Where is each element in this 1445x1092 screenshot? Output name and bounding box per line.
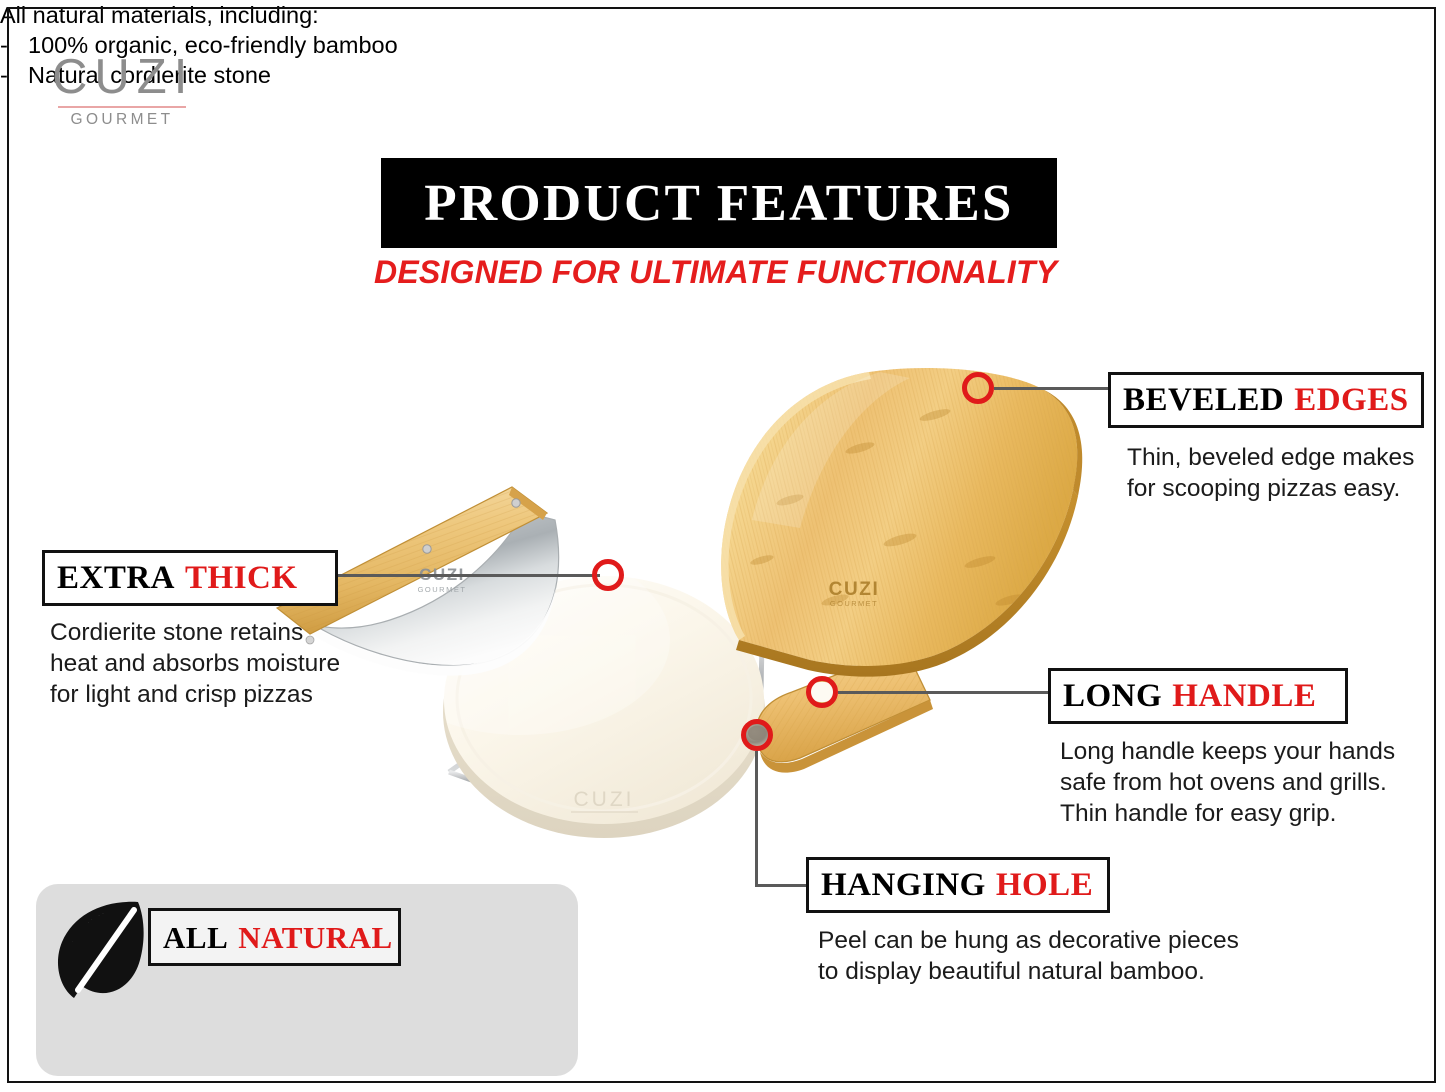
label-beveled-edges: BEVELED EDGES xyxy=(1108,372,1424,428)
label-word-2: HANDLE xyxy=(1172,680,1316,713)
stone-brand-mark: CUZI xyxy=(574,788,635,811)
label-long-handle: LONG HANDLE xyxy=(1048,668,1348,724)
label-word-2: HOLE xyxy=(996,869,1093,902)
label-word-1: EXTRA xyxy=(57,562,175,595)
label-all-natural: ALL NATURAL xyxy=(148,908,401,966)
svg-text:GOURMET: GOURMET xyxy=(830,599,878,608)
logo-divider xyxy=(58,106,186,108)
label-word-2: THICK xyxy=(185,562,298,595)
desc-hanging-hole: Peel can be hung as decorative pieces to… xyxy=(818,925,1250,987)
page-subtitle: DESIGNED FOR ULTIMATE FUNCTIONALITY xyxy=(374,254,1083,291)
marker-long-handle xyxy=(806,676,838,708)
marker-extra-thick xyxy=(592,559,624,591)
label-word-1: BEVELED xyxy=(1123,384,1284,417)
brand-tagline: GOURMET xyxy=(52,111,192,129)
label-word-1: HANGING xyxy=(821,869,986,902)
connector-hanging-hole-horizontal xyxy=(755,884,810,887)
desc-long-handle: Long handle keeps your hands safe from h… xyxy=(1060,736,1400,829)
label-extra-thick: EXTRA THICK xyxy=(42,550,338,606)
bullet-dash: - xyxy=(0,30,28,60)
marker-hanging-hole xyxy=(741,719,773,751)
bamboo-peel: CUZI GOURMET xyxy=(721,368,1082,773)
wire-rack xyxy=(449,622,762,792)
bullet-dash: - xyxy=(0,60,28,90)
infographic-page: CUZI CUZI GOURMET xyxy=(0,0,1445,1092)
brand-logo: CUZI GOURMET xyxy=(52,50,192,129)
peel-brand-mark: CUZI xyxy=(829,579,880,600)
connector-beveled-edges xyxy=(994,387,1110,390)
brand-name: CUZI xyxy=(52,50,192,104)
desc-extra-thick: Cordierite stone retains heat and absorb… xyxy=(50,617,350,710)
connector-hanging-hole-vertical xyxy=(755,751,758,887)
page-title-box: PRODUCT FEATURES xyxy=(381,158,1057,248)
svg-text:GOURMET: GOURMET xyxy=(418,585,467,594)
marker-beveled-edges xyxy=(962,372,994,404)
all-natural-intro: All natural materials, including: xyxy=(0,0,430,30)
page-title: PRODUCT FEATURES xyxy=(424,174,1013,233)
leaf-icon xyxy=(52,898,144,1008)
label-word-1: ALL xyxy=(163,922,228,953)
label-word-2: EDGES xyxy=(1294,384,1408,417)
label-word-1: LONG xyxy=(1063,680,1162,713)
label-word-2: NATURAL xyxy=(238,922,393,953)
label-hanging-hole: HANGING HOLE xyxy=(806,857,1110,913)
pizza-stone: CUZI xyxy=(370,545,765,838)
connector-extra-thick xyxy=(338,574,600,577)
connector-long-handle xyxy=(838,691,1050,694)
desc-beveled-edges: Thin, beveled edge makes for scooping pi… xyxy=(1127,442,1437,504)
